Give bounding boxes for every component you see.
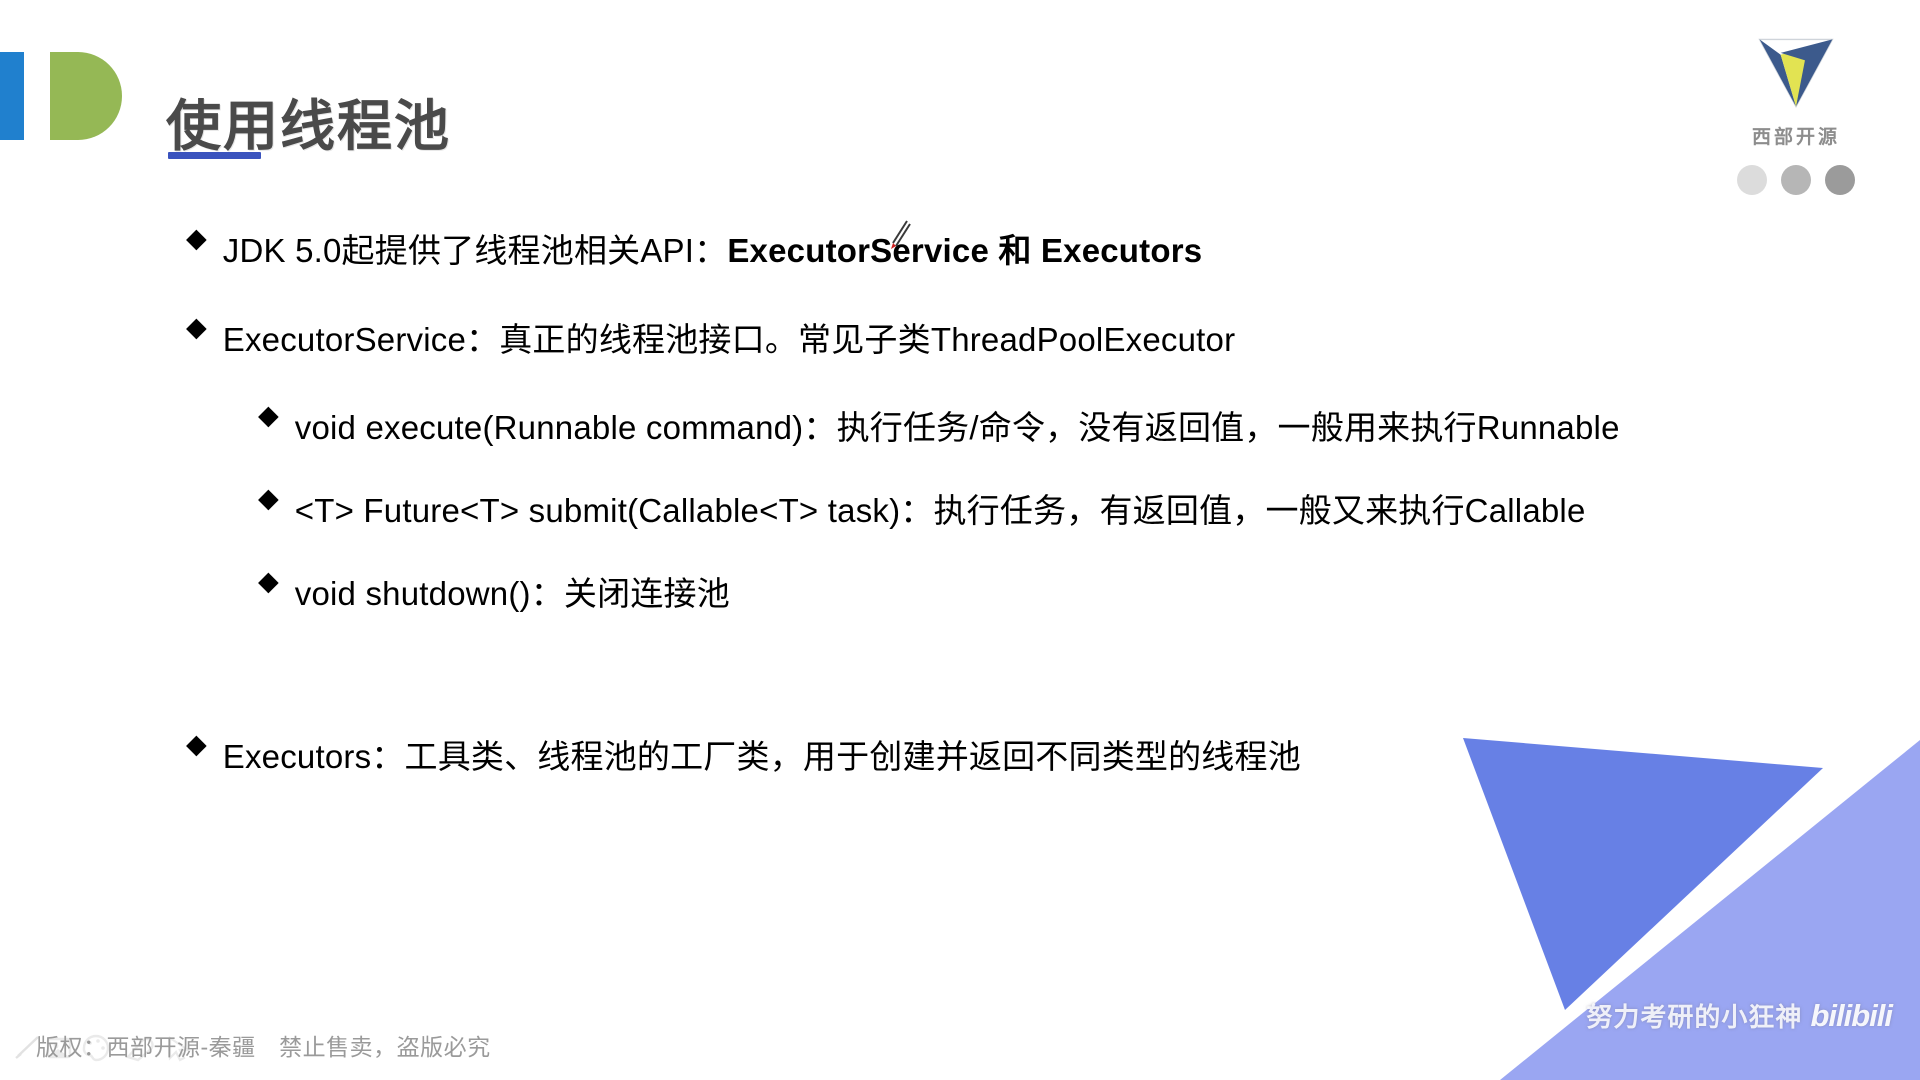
bullet-text: JDK 5.0起提供了线程池相关API：ExecutorService 和 Ex… (223, 222, 1713, 281)
watermark: 努力考研的小狂神 bilibili (1586, 997, 1892, 1034)
logo-green-d-shape (50, 52, 122, 140)
bullet-item: ◆ void execute(Runnable command)：执行任务/命令… (0, 399, 1920, 458)
bullet-item: ◆ Executors：工具类、线程池的工厂类，用于创建并返回不同类型的线程池 (0, 728, 1920, 787)
brand-dots (1716, 165, 1876, 195)
bullet-text: void shutdown()：关闭连接池 (295, 565, 1715, 624)
content-spacer (0, 648, 1920, 728)
brand-block: 西部开源 (1716, 26, 1876, 195)
diamond-bullet-icon: ◆ (186, 222, 207, 256)
bullet-text: Executors：工具类、线程池的工厂类，用于创建并返回不同类型的线程池 (223, 728, 1713, 787)
bullet-item: ◆ JDK 5.0起提供了线程池相关API：ExecutorService 和 … (0, 222, 1920, 281)
brand-name: 西部开源 (1716, 122, 1876, 149)
triangle-v-logo-icon (1748, 26, 1844, 118)
bullet-item: ◆ void shutdown()：关闭连接池 (0, 565, 1920, 624)
brand-dot-1 (1737, 165, 1767, 195)
title-underline (168, 152, 261, 159)
bullet-text: <T> Future<T> submit(Callable<T> task)：执… (295, 482, 1715, 541)
logo-blue-bar (0, 52, 24, 140)
diamond-bullet-icon: ◆ (186, 728, 207, 762)
brand-dot-2 (1781, 165, 1811, 195)
diamond-bullet-icon: ◆ (258, 482, 279, 516)
watermark-text: 努力考研的小狂神 (1586, 997, 1802, 1034)
bullet-item: ◆ ExecutorService：真正的线程池接口。常见子类ThreadPoo… (0, 311, 1920, 370)
diamond-bullet-icon: ◆ (258, 565, 279, 599)
pen-icon (18, 1037, 38, 1056)
slide-content: ◆ JDK 5.0起提供了线程池相关API：ExecutorService 和 … (0, 222, 1920, 816)
diamond-bullet-icon: ◆ (186, 311, 207, 345)
bullet-text-normal: JDK 5.0起提供了线程池相关API： (223, 232, 728, 269)
brand-dot-3 (1825, 165, 1855, 195)
bullet-item: ◆ <T> Future<T> submit(Callable<T> task)… (0, 482, 1920, 541)
bilibili-logo: bilibili (1810, 998, 1892, 1034)
bullet-text: void execute(Runnable command)：执行任务/命令，没… (295, 399, 1715, 458)
bullet-text-bold: ExecutorService 和 Executors (727, 232, 1202, 269)
copyright-text: 版权：西部开源-秦疆 禁止售卖，盗版必究 (36, 1028, 491, 1062)
bullet-text: ExecutorService：真正的线程池接口。常见子类ThreadPoolE… (223, 311, 1713, 370)
page-title: 使用线程池 (166, 99, 451, 154)
diamond-bullet-icon: ◆ (258, 399, 279, 433)
slide-logo-mark (0, 52, 122, 140)
